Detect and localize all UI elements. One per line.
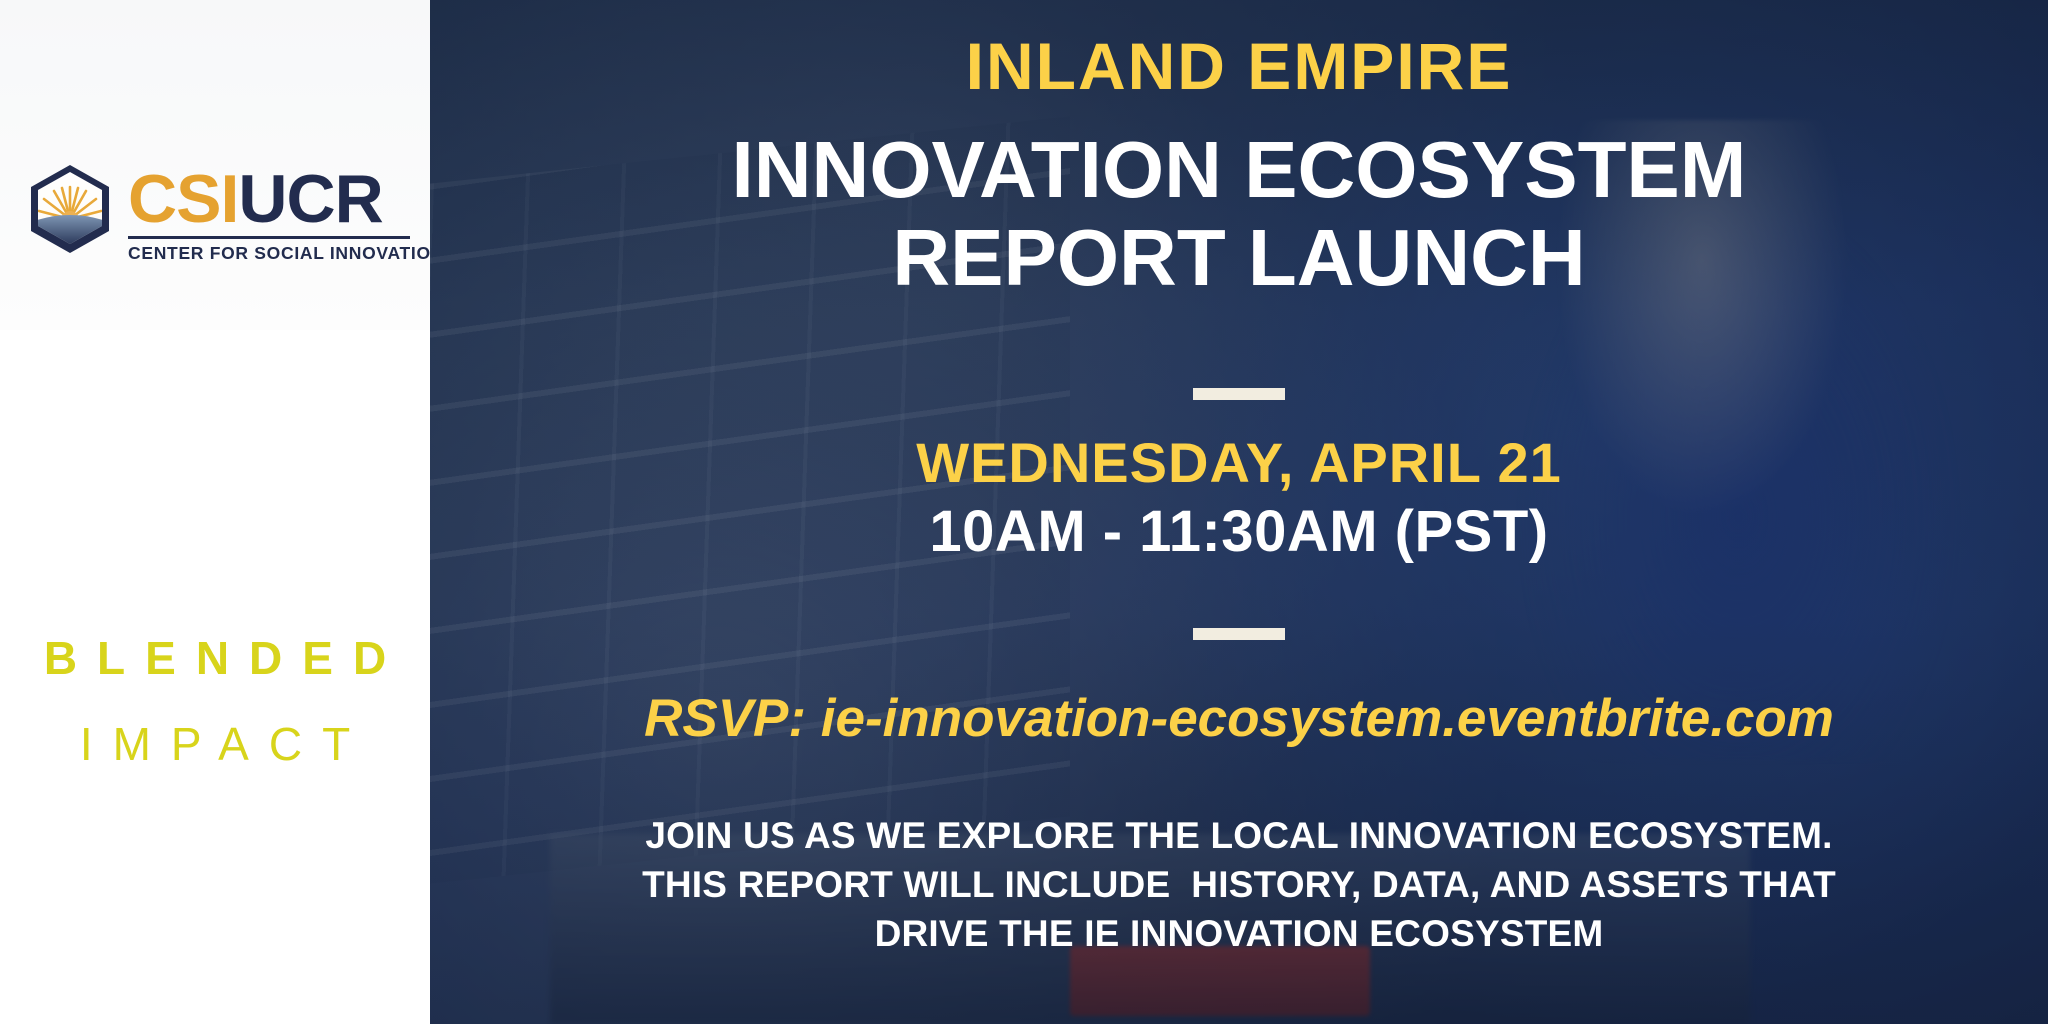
brand-line-impact: IMPACT [0, 721, 430, 767]
event-text-content: INLAND EMPIRE INNOVATION ECOSYSTEM REPOR… [430, 0, 2048, 1024]
description-line-3: DRIVE THE IE INNOVATION ECOSYSTEM [430, 910, 2048, 959]
blended-impact-brand: BLENDED IMPACT [0, 635, 430, 767]
logo-wordmark: CSIUCR CENTER FOR SOCIAL INNOVATION [128, 166, 444, 264]
event-date: WEDNESDAY, APRIL 21 [430, 432, 2048, 494]
event-kicker: INLAND EMPIRE [430, 32, 2048, 101]
event-time: 10AM - 11:30AM (PST) [430, 500, 2048, 564]
event-details-panel: INLAND EMPIRE INNOVATION ECOSYSTEM REPOR… [430, 0, 2048, 1024]
headline-line-1: INNOVATION ECOSYSTEM [732, 125, 1747, 214]
csi-hexagon-sunrise-icon [24, 163, 116, 267]
brand-line-blended: BLENDED [0, 635, 430, 681]
event-description: JOIN US AS WE EXPLORE THE LOCAL INNOVATI… [430, 812, 2048, 958]
description-line-2: THIS REPORT WILL INCLUDE HISTORY, DATA, … [430, 861, 2048, 910]
logo-ucr-text: UCR [238, 161, 382, 237]
logo-csi-text: CSI [128, 161, 238, 237]
divider-top [430, 388, 2048, 400]
divider-bottom [430, 628, 2048, 640]
event-banner: CSIUCR CENTER FOR SOCIAL INNOVATION BLEN… [0, 0, 2048, 1024]
event-headline: INNOVATION ECOSYSTEM REPORT LAUNCH [430, 128, 2048, 300]
brand-panel: CSIUCR CENTER FOR SOCIAL INNOVATION BLEN… [0, 0, 430, 1024]
csi-ucr-logo: CSIUCR CENTER FOR SOCIAL INNOVATION [24, 140, 420, 290]
description-line-1: JOIN US AS WE EXPLORE THE LOCAL INNOVATI… [430, 812, 2048, 861]
rsvp-link[interactable]: RSVP: ie-innovation-ecosystem.eventbrite… [430, 690, 2048, 748]
headline-line-2: REPORT LAUNCH [430, 216, 2048, 300]
logo-tagline: CENTER FOR SOCIAL INNOVATION [128, 243, 444, 264]
